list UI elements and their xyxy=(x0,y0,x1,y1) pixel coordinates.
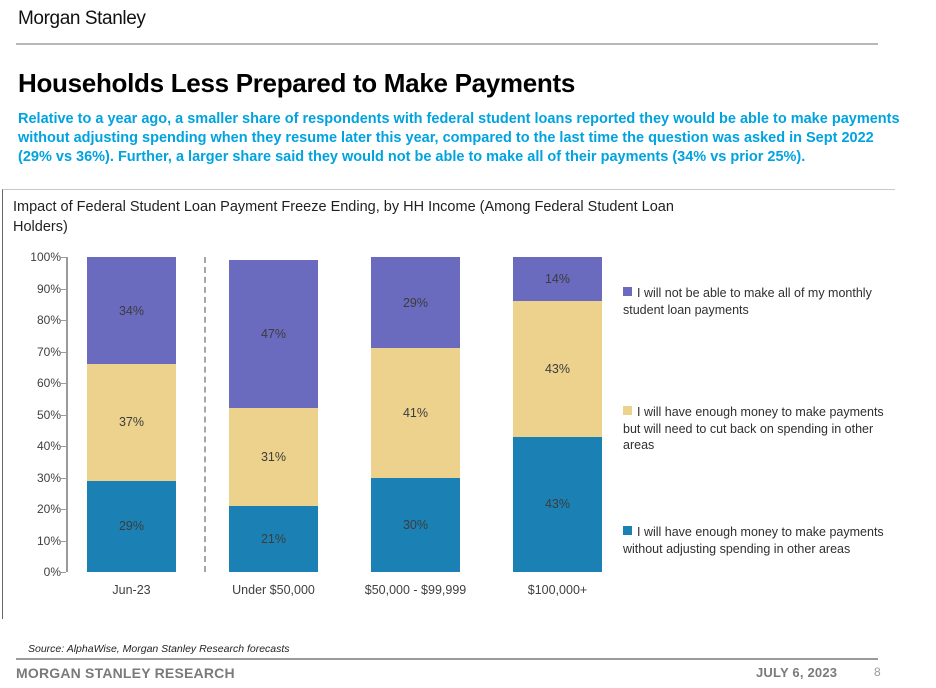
y-axis-tick xyxy=(61,415,66,416)
y-axis-tick-label: 30% xyxy=(15,471,61,485)
y-axis-line xyxy=(66,257,68,572)
y-axis-tick xyxy=(61,446,66,447)
y-axis-tick xyxy=(61,509,66,510)
bar-segment-label: 30% xyxy=(403,518,428,532)
y-axis-tick-label: 10% xyxy=(15,534,61,548)
bar-segment: 43% xyxy=(513,301,602,436)
y-axis-tick-label: 100% xyxy=(15,250,61,264)
bar-segment: 14% xyxy=(513,257,602,301)
legend-swatch-icon xyxy=(623,406,632,415)
bar-column: 43%43%14% xyxy=(513,257,602,572)
footer-brand: MORGAN STANLEY RESEARCH xyxy=(16,665,235,681)
legend-label: I will not be able to make all of my mon… xyxy=(623,286,872,317)
legend-item[interactable]: I will not be able to make all of my mon… xyxy=(623,285,895,318)
bar-segment-label: 34% xyxy=(119,304,144,318)
bar-segment: 47% xyxy=(229,260,318,408)
y-axis-tick-label: 60% xyxy=(15,376,61,390)
bar-segment: 21% xyxy=(229,506,318,572)
bar-segment: 34% xyxy=(87,257,176,364)
x-axis-label: Jun-23 xyxy=(112,583,150,597)
bar-segment-label: 43% xyxy=(545,362,570,376)
exhibit-frame: Impact of Federal Student Loan Payment F… xyxy=(2,189,895,619)
legend-label: I will have enough money to make payment… xyxy=(623,525,884,556)
legend-swatch-icon xyxy=(623,287,632,296)
y-axis-tick xyxy=(61,541,66,542)
legend-swatch-icon xyxy=(623,526,632,535)
y-axis-tick xyxy=(61,572,66,573)
page-summary: Relative to a year ago, a smaller share … xyxy=(18,110,904,167)
x-axis-label: $50,000 - $99,999 xyxy=(365,583,466,597)
bar-segment: 29% xyxy=(371,257,460,348)
y-axis-tick xyxy=(61,478,66,479)
bar-column: 21%31%47% xyxy=(229,257,318,572)
footer-date: JULY 6, 2023 xyxy=(756,665,837,680)
footer-page-number: 8 xyxy=(874,665,881,679)
y-axis: 0%10%20%30%40%50%60%70%80%90%100% xyxy=(11,190,61,619)
bar-segment-label: 21% xyxy=(261,532,286,546)
page-title: Households Less Prepared to Make Payment… xyxy=(18,68,898,99)
bar-segment-label: 41% xyxy=(403,406,428,420)
y-axis-tick-label: 90% xyxy=(15,282,61,296)
bar-segment-label: 43% xyxy=(545,497,570,511)
bar-segment-label: 31% xyxy=(261,450,286,464)
legend-item[interactable]: I will have enough money to make payment… xyxy=(623,404,895,454)
y-axis-tick-label: 20% xyxy=(15,502,61,516)
bar-column: 30%41%29% xyxy=(371,257,460,572)
bar-segment: 37% xyxy=(87,364,176,481)
footer-divider xyxy=(16,658,878,660)
y-axis-tick xyxy=(61,352,66,353)
bar-segment: 29% xyxy=(87,481,176,572)
bar-segment: 43% xyxy=(513,437,602,572)
bar-segment-label: 29% xyxy=(403,296,428,310)
y-axis-tick-label: 0% xyxy=(15,565,61,579)
category-divider xyxy=(204,257,206,572)
bar-segment-label: 14% xyxy=(545,272,570,286)
bar-column: 29%37%34% xyxy=(87,257,176,572)
bar-segment: 30% xyxy=(371,478,460,573)
bar-segment-label: 47% xyxy=(261,327,286,341)
x-axis-label: Under $50,000 xyxy=(232,583,315,597)
stacked-bar-chart: 0%10%20%30%40%50%60%70%80%90%100% 29%37%… xyxy=(3,190,895,619)
bar-segment-label: 29% xyxy=(119,519,144,533)
legend-item[interactable]: I will have enough money to make payment… xyxy=(623,524,895,557)
bar-segment: 41% xyxy=(371,348,460,477)
source-note: Source: AlphaWise, Morgan Stanley Resear… xyxy=(28,643,290,655)
y-axis-tick xyxy=(61,289,66,290)
bar-segment: 31% xyxy=(229,408,318,506)
header-divider xyxy=(16,43,878,45)
y-axis-tick-label: 40% xyxy=(15,439,61,453)
y-axis-tick xyxy=(61,320,66,321)
legend-label: I will have enough money to make payment… xyxy=(623,405,884,452)
brand-logo: Morgan Stanley xyxy=(18,8,145,30)
y-axis-tick xyxy=(61,257,66,258)
y-axis-tick-label: 70% xyxy=(15,345,61,359)
y-axis-tick xyxy=(61,383,66,384)
y-axis-tick-label: 50% xyxy=(15,408,61,422)
y-axis-tick-label: 80% xyxy=(15,313,61,327)
bar-segment-label: 37% xyxy=(119,415,144,429)
x-axis-label: $100,000+ xyxy=(528,583,587,597)
